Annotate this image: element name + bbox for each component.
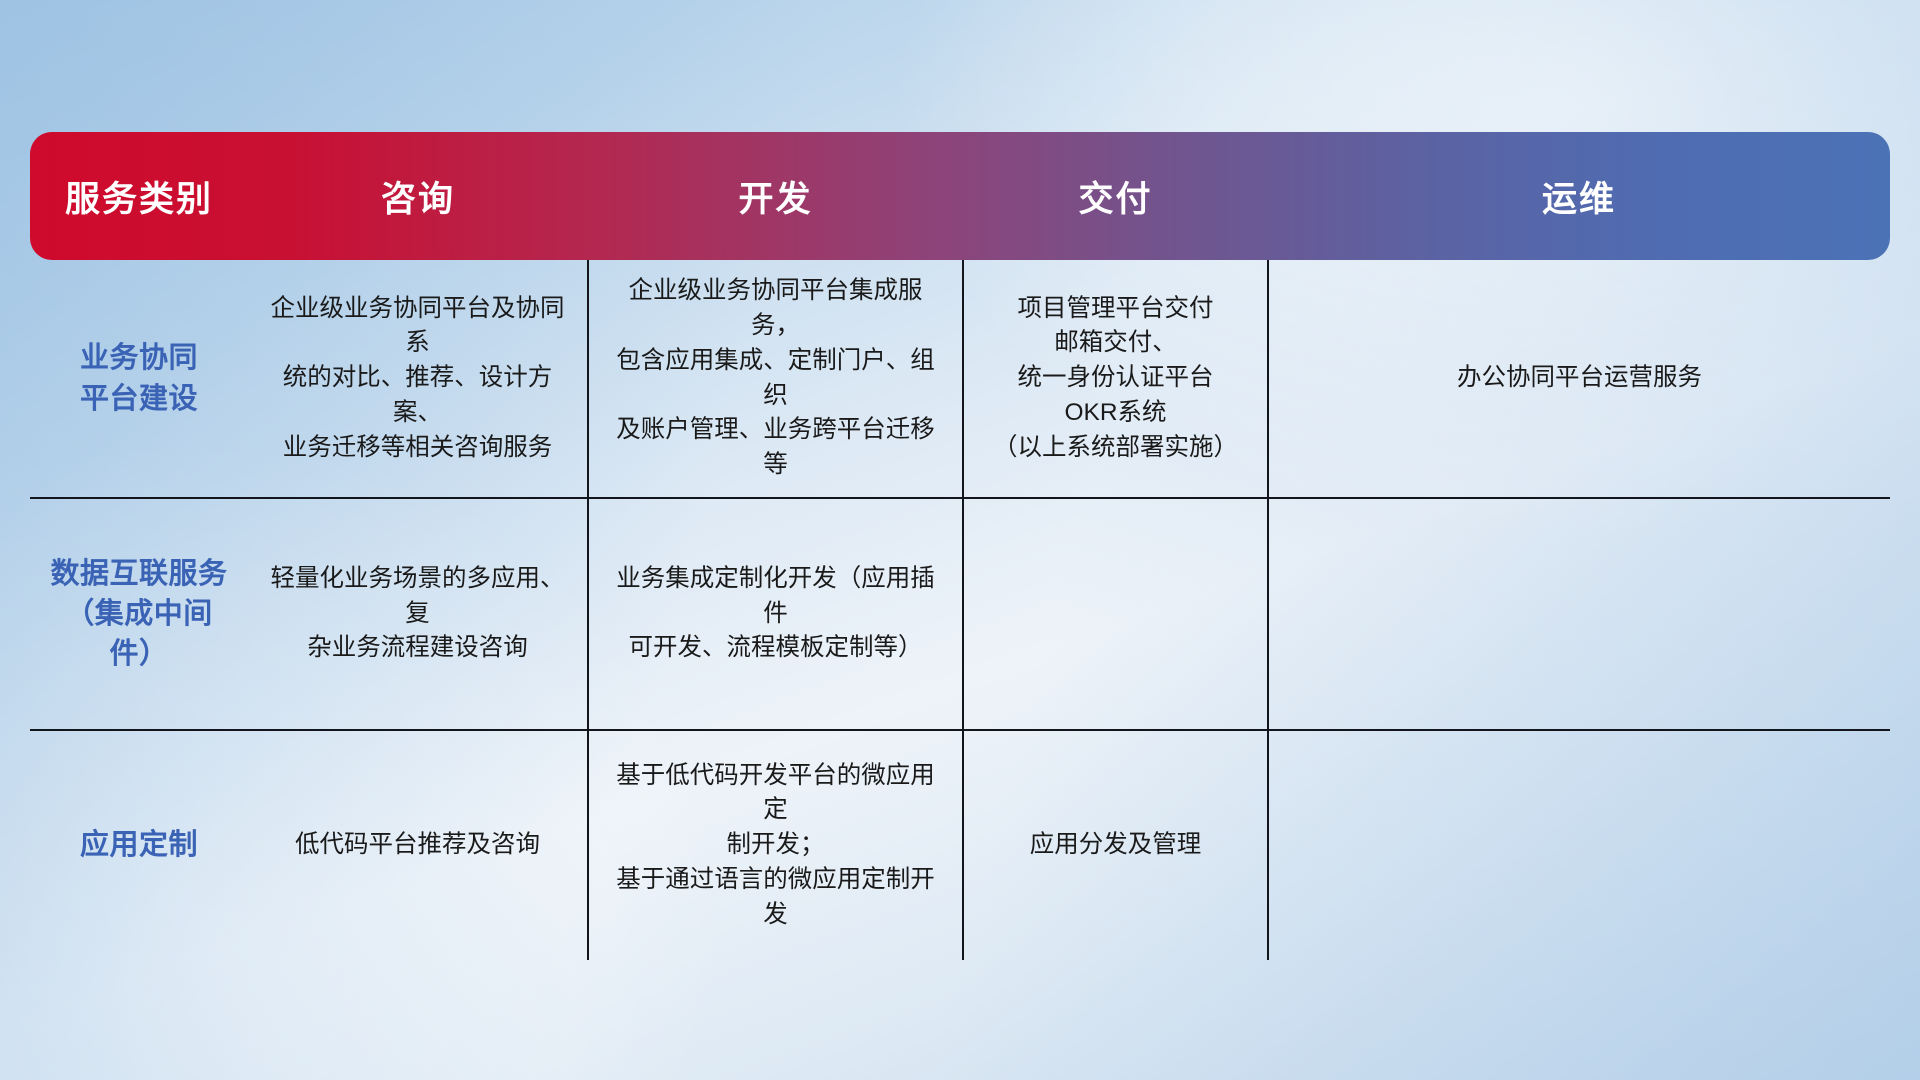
cell-text: 项目管理平台交付 邮箱交付、 统一身份认证平台 OKR系统 （以上系统部署实施） — [980, 292, 1251, 466]
table-row: 业务协同 平台建设 企业级业务协同平台及协同系 统的对比、推荐、设计方案、 业务… — [30, 260, 1890, 498]
header-cell-development: 开发 — [588, 132, 963, 260]
header-cell-consulting: 咨询 — [248, 132, 588, 260]
cell-text: 企业级业务协同平台集成服务， 包含应用集成、定制门户、组织 及账户管理、业务跨平… — [605, 274, 946, 483]
cell-development: 业务集成定制化开发（应用插件 可开发、流程模板定制等） — [588, 498, 963, 730]
cell-delivery — [963, 498, 1268, 730]
service-category-table: 服务类别 咨询 开发 交付 运维 — [30, 132, 1890, 960]
header-label-consulting: 咨询 — [248, 171, 588, 222]
table-row: 数据互联服务 （集成中间件） 轻量化业务场景的多应用、复 杂业务流程建设咨询 业… — [30, 498, 1890, 730]
row-label: 应用定制 — [46, 825, 232, 865]
row-label: 数据互联服务 （集成中间件） — [46, 554, 232, 674]
cell-consulting: 企业级业务协同平台及协同系 统的对比、推荐、设计方案、 业务迁移等相关咨询服务 — [248, 260, 588, 498]
cell-consulting: 轻量化业务场景的多应用、复 杂业务流程建设咨询 — [248, 498, 588, 730]
header-cell-operations: 运维 — [1268, 132, 1890, 260]
row-label-cell: 业务协同 平台建设 — [30, 260, 248, 498]
header-label-operations: 运维 — [1268, 171, 1890, 222]
cell-text: 轻量化业务场景的多应用、复 杂业务流程建设咨询 — [264, 562, 571, 666]
cell-text: 企业级业务协同平台及协同系 统的对比、推荐、设计方案、 业务迁移等相关咨询服务 — [264, 292, 571, 466]
cell-text: 应用分发及管理 — [980, 828, 1251, 863]
header-row: 服务类别 咨询 开发 交付 运维 — [30, 132, 1890, 260]
cell-text: 办公协同平台运营服务 — [1285, 361, 1874, 396]
cell-delivery: 项目管理平台交付 邮箱交付、 统一身份认证平台 OKR系统 （以上系统部署实施） — [963, 260, 1268, 498]
cell-text — [1285, 845, 1874, 847]
cell-text: 低代码平台推荐及咨询 — [264, 828, 571, 863]
table: 服务类别 咨询 开发 交付 运维 — [30, 132, 1890, 960]
row-label-cell: 数据互联服务 （集成中间件） — [30, 498, 248, 730]
cell-text: 业务集成定制化开发（应用插件 可开发、流程模板定制等） — [605, 562, 946, 666]
row-label-cell: 应用定制 — [30, 730, 248, 960]
cell-operations — [1268, 730, 1890, 960]
header-cell-delivery: 交付 — [963, 132, 1268, 260]
header-cell-category: 服务类别 — [30, 132, 248, 260]
cell-delivery: 应用分发及管理 — [963, 730, 1268, 960]
cell-development: 企业级业务协同平台集成服务， 包含应用集成、定制门户、组织 及账户管理、业务跨平… — [588, 260, 963, 498]
row-label: 业务协同 平台建设 — [46, 338, 232, 418]
slide-canvas: 服务类别 咨询 开发 交付 运维 — [0, 0, 1920, 1080]
cell-text: 基于低代码开发平台的微应用定 制开发； 基于通过语言的微应用定制开发 — [605, 759, 946, 933]
cell-operations: 办公协同平台运营服务 — [1268, 260, 1890, 498]
cell-text — [980, 613, 1251, 615]
header-label-category: 服务类别 — [30, 171, 248, 222]
header-label-delivery: 交付 — [963, 171, 1268, 222]
cell-text — [1285, 613, 1874, 615]
table-body: 业务协同 平台建设 企业级业务协同平台及协同系 统的对比、推荐、设计方案、 业务… — [30, 260, 1890, 960]
cell-consulting: 低代码平台推荐及咨询 — [248, 730, 588, 960]
cell-operations — [1268, 498, 1890, 730]
cell-development: 基于低代码开发平台的微应用定 制开发； 基于通过语言的微应用定制开发 — [588, 730, 963, 960]
table-header: 服务类别 咨询 开发 交付 运维 — [30, 132, 1890, 260]
table-row: 应用定制 低代码平台推荐及咨询 基于低代码开发平台的微应用定 制开发； 基于通过… — [30, 730, 1890, 960]
header-label-development: 开发 — [588, 171, 963, 222]
